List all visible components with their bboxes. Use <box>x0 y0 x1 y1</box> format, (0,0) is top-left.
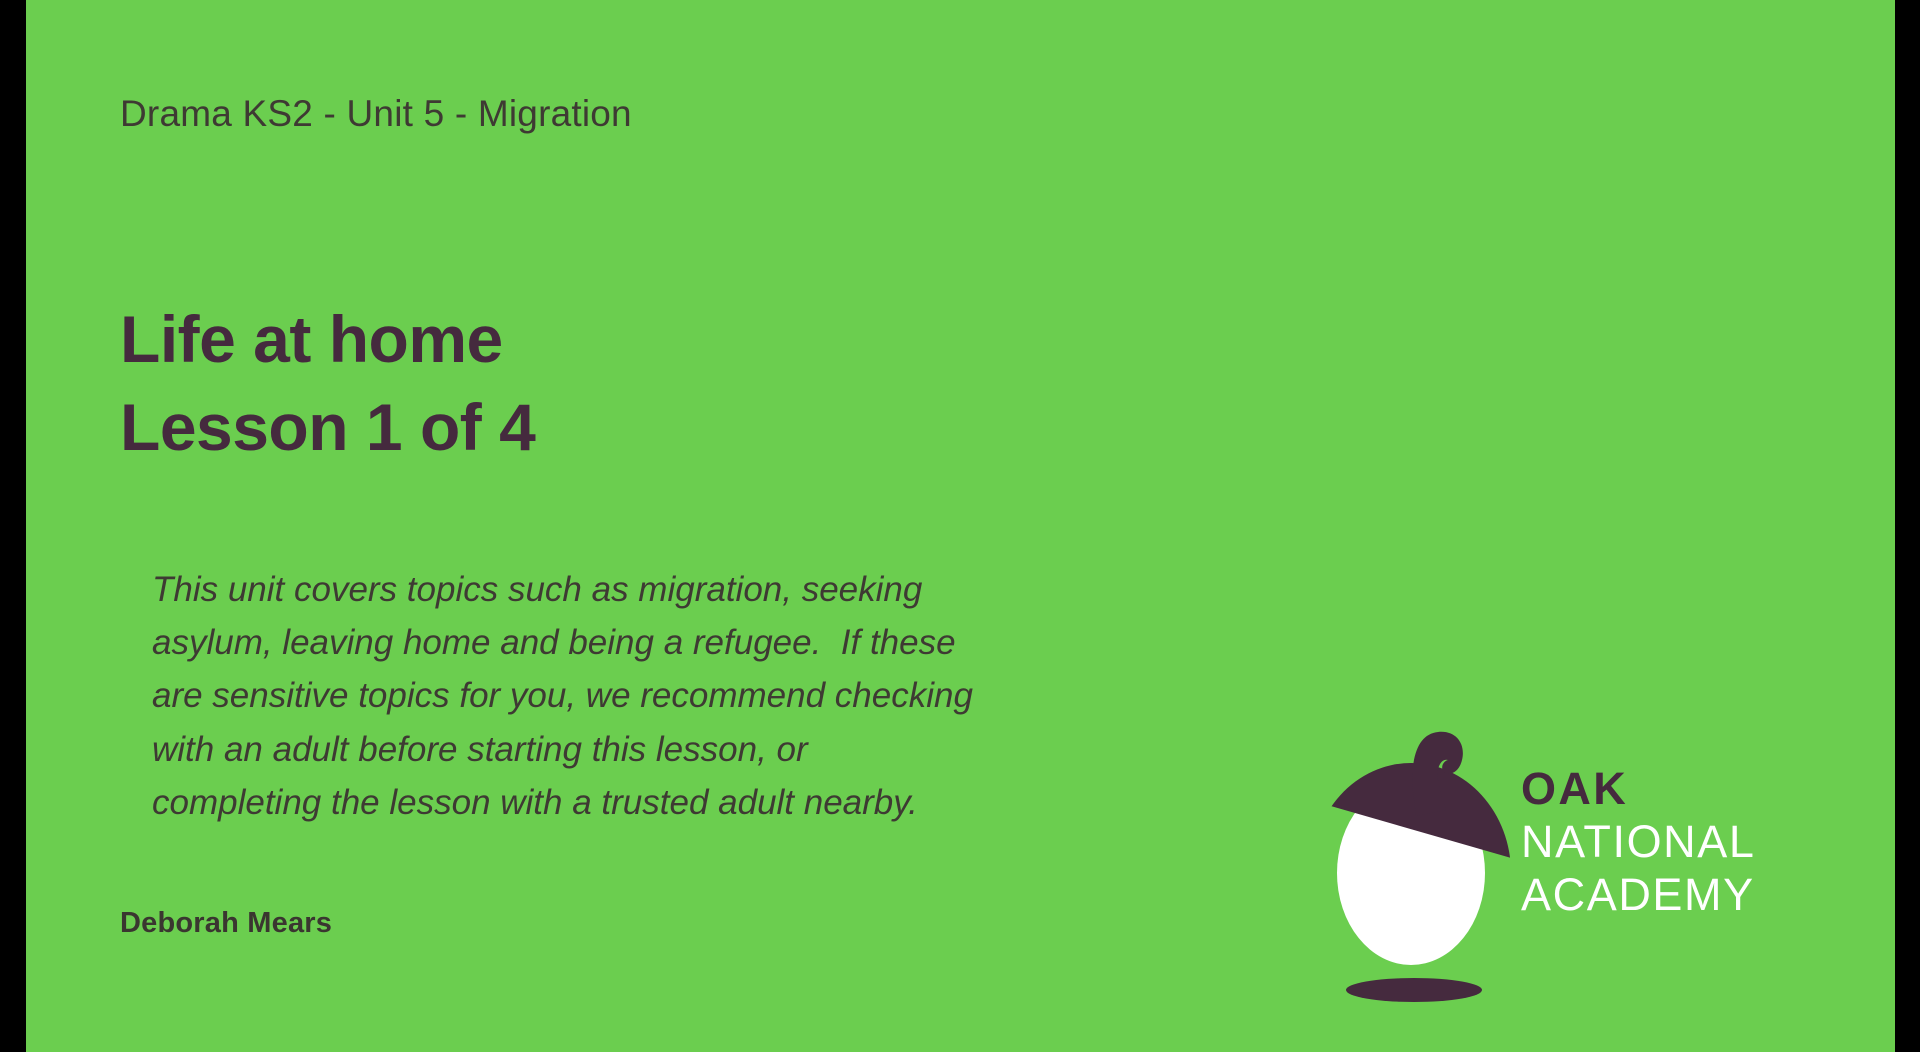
lesson-description: This unit covers topics such as migratio… <box>152 563 1352 829</box>
title-line-subject: Life at home <box>120 295 535 383</box>
author-name: Deborah Mears <box>120 907 332 940</box>
letterbox-bar-left <box>0 0 26 1052</box>
logo-word-academy: ACADEMY <box>1521 868 1861 921</box>
description-line: completing the lesson with a trusted adu… <box>152 776 1352 829</box>
letterbox-bar-right <box>1895 0 1920 1052</box>
unit-breadcrumb: Drama KS2 - Unit 5 - Migration <box>120 93 632 135</box>
lesson-title-slide: Drama KS2 - Unit 5 - Migration Life at h… <box>26 0 1895 1052</box>
logo-word-national: NATIONAL <box>1521 815 1861 868</box>
page-title: Life at home Lesson 1 of 4 <box>120 295 535 472</box>
description-line: with an adult before starting this lesso… <box>152 723 1352 776</box>
oak-national-academy-logo: OAK NATIONAL ACADEMY <box>1316 718 1876 1018</box>
logo-wordmark: OAK NATIONAL ACADEMY <box>1521 762 1861 921</box>
description-line: asylum, leaving home and being a refugee… <box>152 616 1352 669</box>
description-line: are sensitive topics for you, we recomme… <box>152 669 1352 722</box>
title-line-lesson-number: Lesson 1 of 4 <box>120 383 535 471</box>
description-line: This unit covers topics such as migratio… <box>152 563 1352 616</box>
logo-word-oak: OAK <box>1521 762 1861 815</box>
acorn-shadow <box>1346 978 1482 1002</box>
oak-acorn-icon <box>1316 718 1516 1008</box>
